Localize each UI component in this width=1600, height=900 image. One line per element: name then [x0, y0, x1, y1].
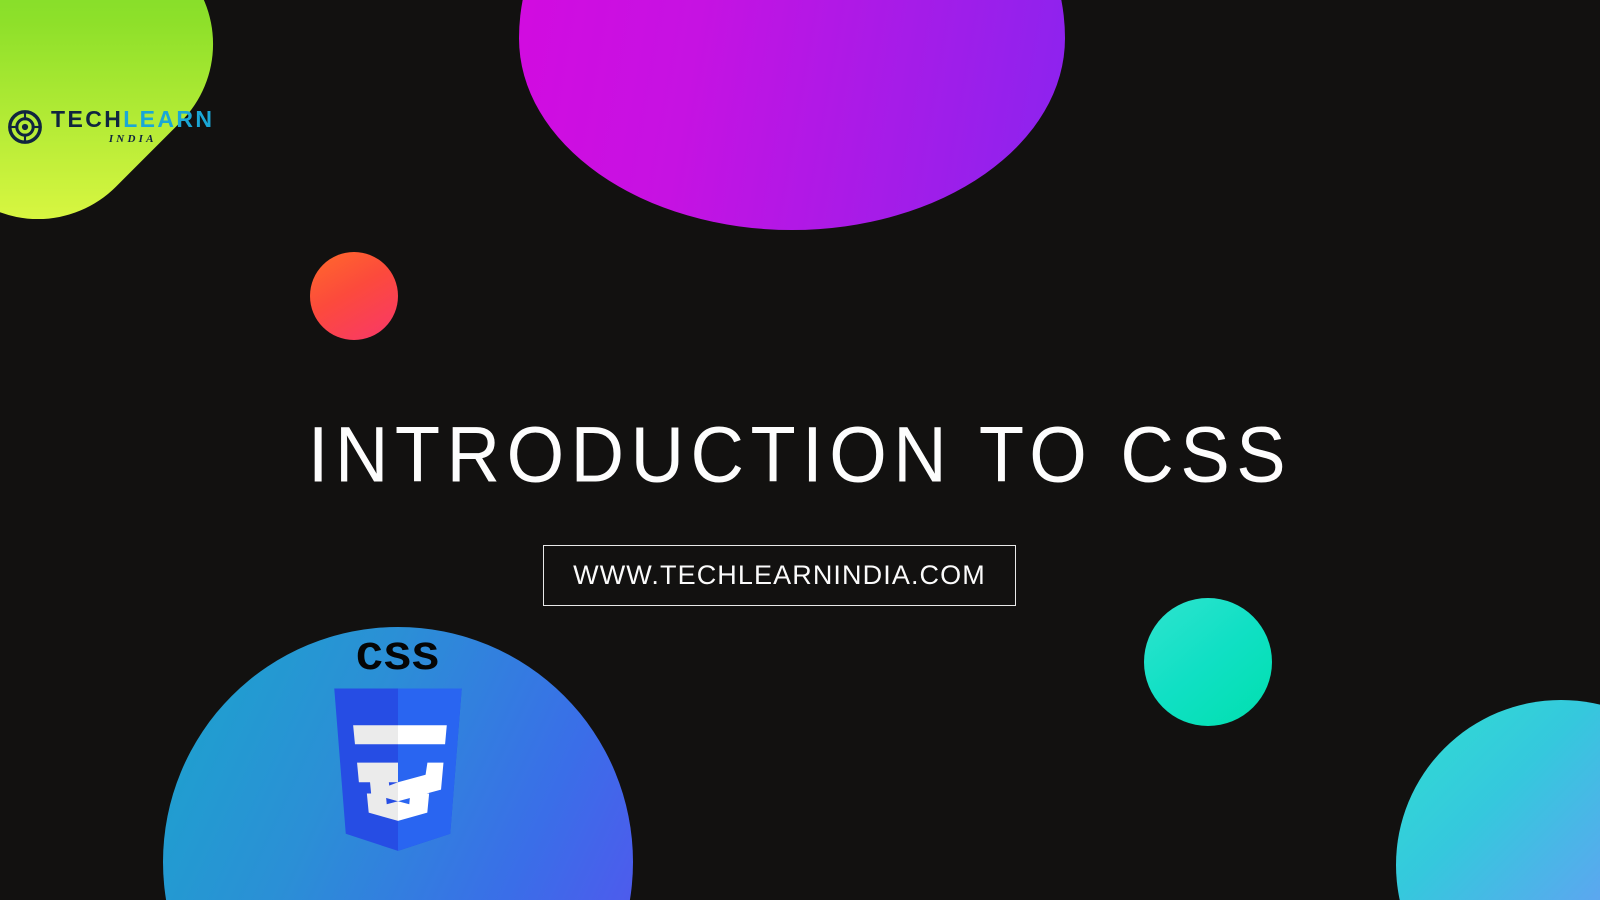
website-url-label: WWW.TECHLEARNINDIA.COM: [573, 560, 986, 591]
target-crosshair-icon: [8, 110, 42, 144]
presentation-slide: TECHLEARN INDIA INTRODUCTION TO CSS WWW.…: [0, 0, 1600, 900]
logo-wordmark-group: TECHLEARN INDIA: [51, 108, 214, 145]
magenta-circle-decoration: [519, 0, 1065, 230]
logo-word-learn: LEARN: [123, 106, 214, 132]
logo-subtitle-india: INDIA: [51, 134, 214, 145]
teal-circle-decoration: [1144, 598, 1272, 726]
css-wordmark: CSS: [299, 640, 496, 680]
teal-purple-circle-decoration: [1396, 700, 1600, 900]
techlearn-india-logo: TECHLEARN INDIA: [8, 108, 214, 145]
logo-word-tech: TECH: [51, 106, 123, 132]
orange-circle-decoration: [310, 252, 398, 340]
page-title: INTRODUCTION TO CSS: [0, 409, 1600, 499]
css3-shield-icon: [310, 688, 486, 868]
website-url-box[interactable]: WWW.TECHLEARNINDIA.COM: [543, 545, 1016, 606]
css3-logo: CSS: [310, 640, 486, 868]
